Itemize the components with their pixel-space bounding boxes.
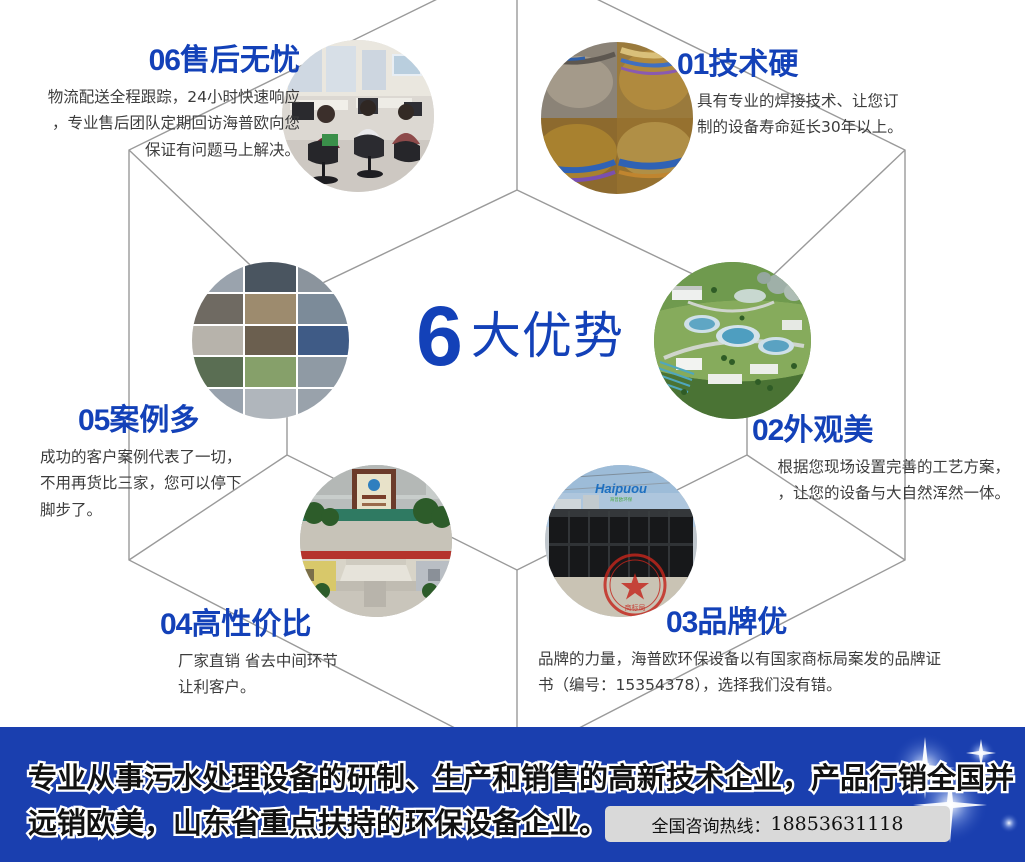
hotline-label: 全国咨询热线： (652, 812, 771, 837)
advantage-05-body: 成功的客户案例代表了一切， 不用再货比三家，您可以停下 脚步了。 (40, 444, 340, 524)
photo-circle-02-aerial-plant (654, 262, 811, 419)
collage-cell (298, 262, 349, 292)
advantage-05-number: 05 (78, 404, 109, 437)
center-title: 6 大优势 (395, 286, 645, 386)
advantage-06-heading: 06售后无忧 (0, 44, 300, 78)
advantage-02-body-line: 根据您现场设置完善的工艺方案， (700, 454, 1010, 481)
advantage-02-body-line: ，让您的设备与大自然浑然一体。 (700, 480, 1010, 507)
advantage-03-body: 品牌的力量，海普欧环保设备以有国家商标局案发的品牌证 书（编号：15354378… (538, 646, 998, 699)
hotline-box[interactable]: 全国咨询热线：18853631118 (605, 806, 950, 842)
advantage-01-body-line: 具有专业的焊接技术、让您订 (697, 88, 1007, 115)
advantage-02-body: 根据您现场设置完善的工艺方案， ，让您的设备与大自然浑然一体。 (700, 454, 1010, 507)
svg-text:海普欧环保: 海普欧环保 (610, 496, 633, 503)
center-suffix: 大优势 (471, 311, 624, 361)
advantage-03-body-line: 品牌的力量，海普欧环保设备以有国家商标局案发的品牌证 (538, 646, 998, 673)
advantage-02-text: 02外观美 根据您现场设置完善的工艺方案， ，让您的设备与大自然浑然一体。 (700, 414, 1010, 507)
advantage-01-text: 01技术硬 具有专业的焊接技术、让您订 制的设备寿命延长30年以上。 (677, 48, 1007, 141)
collage-cell (192, 326, 243, 356)
collage-cell (245, 357, 296, 387)
advantage-03-title: 品牌优 (697, 605, 787, 640)
collage-cell (245, 326, 296, 356)
advantage-02-title: 外观美 (783, 413, 873, 448)
collage-cell (298, 326, 349, 356)
advantage-04-text: 04高性价比 厂家直销 省去中间环节 让利客户。 (160, 608, 460, 701)
collage-cell (192, 357, 243, 387)
infographic-root: 6 大优势 (0, 0, 1025, 862)
advantage-06-body-line: 物流配送全程跟踪，24小时快速响应 (0, 84, 300, 111)
advantage-06-number: 06 (149, 44, 180, 77)
advantage-06-title: 售后无忧 (180, 43, 300, 78)
photo-circle-03-equipment-trademark: Haipuou 海普欧环保 商标局 (545, 465, 697, 617)
svg-text:Haipuou: Haipuou (595, 481, 647, 496)
advantage-06-body-line: ，专业售后团队定期回访海普欧向您 (0, 110, 300, 137)
advantage-03-body-line: 书（编号：15354378），选择我们没有错。 (538, 672, 998, 699)
advantage-01-heading: 01技术硬 (677, 48, 1007, 82)
center-number: 6 (416, 294, 461, 378)
advantage-01-title: 技术硬 (708, 47, 798, 82)
advantage-06-text: 06售后无忧 物流配送全程跟踪，24小时快速响应 ，专业售后团队定期回访海普欧向… (0, 44, 300, 164)
advantage-05-text: 05案例多 成功的客户案例代表了一切， 不用再货比三家，您可以停下 脚步了。 (40, 404, 340, 524)
advantage-06-body-line: 保证有问题马上解决。 (0, 137, 300, 164)
collage-cell (298, 357, 349, 387)
advantage-04-body: 厂家直销 省去中间环节 让利客户。 (160, 648, 460, 701)
advantage-04-body-line: 厂家直销 省去中间环节 (178, 648, 460, 675)
advantage-05-body-line: 脚步了。 (40, 497, 340, 524)
advantage-01-number: 01 (677, 48, 708, 81)
photo-circle-01-welding (541, 42, 693, 194)
collage-cell (245, 262, 296, 292)
advantage-04-heading: 04高性价比 (160, 608, 460, 642)
advantage-01-body: 具有专业的焊接技术、让您订 制的设备寿命延长30年以上。 (677, 88, 1007, 141)
hotline-number: 18853631118 (771, 813, 904, 835)
advantage-05-title: 案例多 (109, 403, 199, 438)
photo-circle-06-office (282, 40, 434, 192)
advantage-06-body: 物流配送全程跟踪，24小时快速响应 ，专业售后团队定期回访海普欧向您 保证有问题… (0, 84, 300, 164)
banner-line-2: 远销欧美，山东省重点扶持的环保设备企业。 (28, 800, 608, 842)
advantage-04-number: 04 (160, 608, 191, 641)
advantage-05-body-line: 成功的客户案例代表了一切， (40, 444, 340, 471)
advantage-04-body-line: 让利客户。 (178, 674, 460, 701)
collage-cell (192, 294, 243, 324)
collage-cell (298, 294, 349, 324)
advantage-02-number: 02 (752, 414, 783, 447)
advantage-04-title: 高性价比 (191, 607, 311, 642)
photo-circle-05-case-collage (192, 262, 349, 419)
advantage-05-heading: 05案例多 (40, 404, 340, 438)
advantage-02-heading: 02外观美 (700, 414, 1010, 448)
banner-line-1: 专业从事污水处理设备的研制、生产和销售的高新技术企业，产品行销全国并 (28, 755, 1014, 797)
advantage-03-text: 03品牌优 品牌的力量，海普欧环保设备以有国家商标局案发的品牌证 书（编号：15… (538, 606, 998, 699)
collage-cell (245, 294, 296, 324)
advantage-01-body-line: 制的设备寿命延长30年以上。 (697, 114, 1007, 141)
advantage-05-body-line: 不用再货比三家，您可以停下 (40, 470, 340, 497)
advantage-03-heading: 03品牌优 (538, 606, 998, 640)
advantage-03-number: 03 (666, 606, 697, 639)
collage-cell (192, 262, 243, 292)
